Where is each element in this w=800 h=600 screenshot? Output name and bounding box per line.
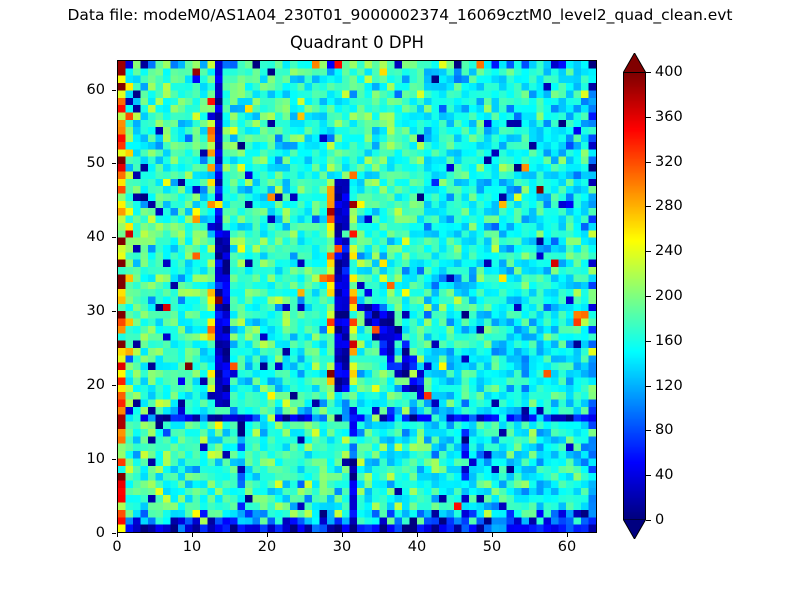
y-ticklabel-40: 40 [61,229,105,245]
x-ticklabel-0: 0 [97,539,137,555]
x-ticklabel-20: 20 [247,539,287,555]
colorbar-ticklabel-240: 240 [655,243,683,259]
colorbar-ticklabel-360: 360 [655,109,683,125]
x-ticklabel-30: 30 [322,539,362,555]
y-ticklabel-0: 0 [61,525,105,541]
colorbar-ticklabel-320: 320 [655,154,683,170]
x-ticklabel-10: 10 [172,539,212,555]
y-ticklabel-60: 60 [61,82,105,98]
colorbar-ticklabel-200: 200 [655,288,683,304]
colorbar-gradient [624,73,645,519]
x-tick-60 [567,533,568,537]
colorbar-tick-200 [646,296,651,297]
colorbar-ticklabel-120: 120 [655,378,683,394]
colorbar-tick-160 [646,341,651,342]
y-tick-60 [112,90,116,91]
colorbar-tick-240 [646,251,651,252]
y-tick-0 [112,533,116,534]
y-tick-40 [112,237,116,238]
colorbar-tick-400 [646,72,651,73]
y-tick-10 [112,459,116,460]
y-ticklabel-30: 30 [61,303,105,319]
x-ticklabel-60: 60 [547,539,587,555]
plot-title: Quadrant 0 DPH [117,32,597,54]
x-tick-10 [192,533,193,537]
colorbar-ticklabel-160: 160 [655,333,683,349]
colorbar-ticklabel-400: 400 [655,64,683,80]
colorbar-tick-280 [646,206,651,207]
x-tick-0 [117,533,118,537]
y-tick-30 [112,311,116,312]
colorbar-tick-0 [646,520,651,521]
heatmap-axes [117,60,597,533]
figure-canvas: Data file: modeM0/AS1A04_230T01_90000023… [0,0,800,600]
x-tick-40 [417,533,418,537]
colorbar: 04080120160200240280320360400 [623,60,743,540]
colorbar-extend-top-icon [623,53,646,73]
y-ticklabel-50: 50 [61,155,105,171]
colorbar-tick-320 [646,162,651,163]
colorbar-extend-bottom-icon [623,519,646,539]
y-tick-50 [112,163,116,164]
colorbar-ticklabel-40: 40 [655,467,673,483]
colorbar-tick-120 [646,386,651,387]
y-tick-20 [112,385,116,386]
colorbar-tick-360 [646,117,651,118]
x-tick-30 [342,533,343,537]
colorbar-body [623,72,646,520]
x-tick-20 [267,533,268,537]
colorbar-tick-80 [646,430,651,431]
colorbar-ticklabel-0: 0 [655,512,664,528]
y-ticklabel-20: 20 [61,377,105,393]
x-ticklabel-40: 40 [397,539,437,555]
detector-heatmap-image [118,61,596,532]
colorbar-ticklabel-280: 280 [655,198,683,214]
data-file-suptitle: Data file: modeM0/AS1A04_230T01_90000023… [0,6,800,25]
x-tick-50 [492,533,493,537]
colorbar-tick-40 [646,475,651,476]
x-ticklabel-50: 50 [472,539,512,555]
colorbar-ticklabel-80: 80 [655,422,673,438]
y-ticklabel-10: 10 [61,451,105,467]
